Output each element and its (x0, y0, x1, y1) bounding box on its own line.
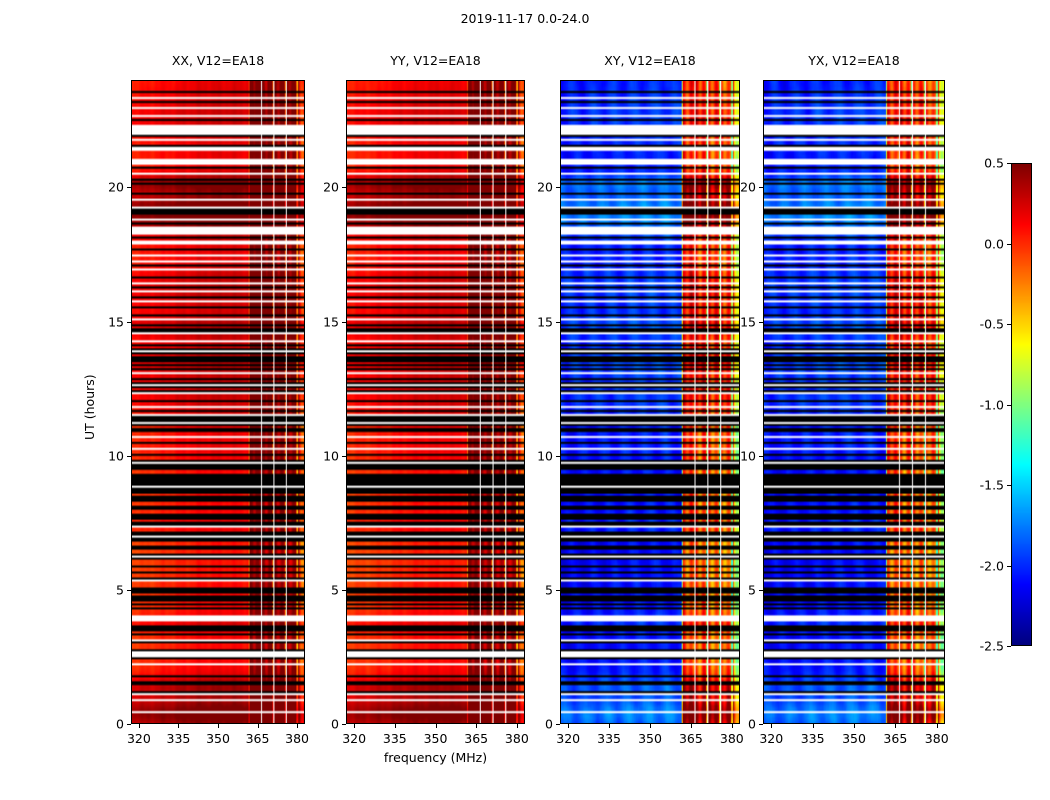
y-tickmark (342, 724, 346, 725)
x-tickmark (139, 724, 140, 728)
y-tickmark (127, 456, 131, 457)
colorbar-tick-label: 0.0 (963, 236, 1004, 251)
panel-title-xx: XX, V12=EA18 (131, 53, 305, 68)
x-tick-label: 335 (383, 731, 407, 746)
y-tickmark (759, 187, 763, 188)
y-tick-label: 0 (723, 717, 756, 732)
colorbar-tick-label: -0.5 (963, 317, 1004, 332)
y-tickmark (556, 187, 560, 188)
x-tick-label: 350 (842, 731, 866, 746)
y-tick-label: 15 (91, 314, 124, 329)
x-tick-label: 365 (464, 731, 488, 746)
colorbar-tick-label: -2.0 (963, 558, 1004, 573)
x-tick-label: 380 (505, 731, 529, 746)
x-tick-label: 350 (424, 731, 448, 746)
y-tick-label: 0 (520, 717, 553, 732)
colorbar-tickmark (1007, 485, 1011, 486)
x-tick-label: 335 (167, 731, 191, 746)
x-tickmark (178, 724, 179, 728)
x-tick-label: 365 (246, 731, 270, 746)
y-tick-label: 0 (306, 717, 339, 732)
y-tick-label: 5 (91, 582, 124, 597)
figure-canvas: 2019-11-17 0.0-24.0 XX, V12=EA1832033535… (0, 0, 1050, 800)
y-tick-label: 10 (306, 448, 339, 463)
x-tickmark (771, 724, 772, 728)
heatmap-image-yy (347, 81, 524, 723)
y-tickmark (556, 724, 560, 725)
colorbar-tickmark (1007, 244, 1011, 245)
y-tickmark (342, 590, 346, 591)
y-tick-label: 15 (723, 314, 756, 329)
panel-title-xy: XY, V12=EA18 (560, 53, 740, 68)
y-tick-label: 15 (520, 314, 553, 329)
y-tickmark (127, 590, 131, 591)
x-tickmark (568, 724, 569, 728)
y-tick-label: 20 (723, 180, 756, 195)
colorbar-tickmark (1007, 646, 1011, 647)
panel-title-yx: YX, V12=EA18 (763, 53, 945, 68)
heatmap-panel-yy[interactable] (346, 80, 525, 724)
y-tick-label: 20 (91, 180, 124, 195)
x-tick-label: 380 (925, 731, 949, 746)
x-tick-label: 335 (801, 731, 825, 746)
y-tickmark (127, 724, 131, 725)
heatmap-image-xy (561, 81, 739, 723)
x-tick-label: 350 (638, 731, 662, 746)
x-tickmark (395, 724, 396, 728)
y-tick-label: 5 (723, 582, 756, 597)
y-tick-label: 5 (306, 582, 339, 597)
x-tickmark (895, 724, 896, 728)
x-tickmark (937, 724, 938, 728)
y-tickmark (342, 456, 346, 457)
colorbar-tick-label: -2.5 (963, 639, 1004, 654)
x-tickmark (476, 724, 477, 728)
y-tickmark (342, 187, 346, 188)
x-tick-label: 350 (206, 731, 230, 746)
y-tickmark (759, 724, 763, 725)
colorbar-tick-label: 0.5 (963, 156, 1004, 171)
y-tick-label: 10 (520, 448, 553, 463)
y-tickmark (556, 322, 560, 323)
heatmap-panel-yx[interactable] (763, 80, 945, 724)
x-tick-label: 365 (883, 731, 907, 746)
x-tickmark (258, 724, 259, 728)
y-tickmark (127, 187, 131, 188)
heatmap-canvas-yx (764, 81, 944, 723)
x-tickmark (609, 724, 610, 728)
colorbar (1011, 163, 1032, 646)
x-tick-label: 380 (285, 731, 309, 746)
x-tickmark (813, 724, 814, 728)
x-tickmark (436, 724, 437, 728)
x-tickmark (517, 724, 518, 728)
y-tickmark (759, 456, 763, 457)
x-tickmark (854, 724, 855, 728)
x-tickmark (297, 724, 298, 728)
y-tick-label: 0 (91, 717, 124, 732)
x-tick-label: 335 (597, 731, 621, 746)
y-axis-label: UT (hours) (82, 374, 97, 440)
y-tick-label: 20 (520, 180, 553, 195)
panel-title-yy: YY, V12=EA18 (346, 53, 525, 68)
y-tickmark (759, 590, 763, 591)
y-tick-label: 10 (91, 448, 124, 463)
colorbar-gradient (1012, 164, 1031, 645)
heatmap-panel-xy[interactable] (560, 80, 740, 724)
colorbar-tickmark (1007, 324, 1011, 325)
x-tick-label: 320 (342, 731, 366, 746)
heatmap-image-xx (132, 81, 304, 723)
colorbar-tick-label: -1.5 (963, 478, 1004, 493)
x-tickmark (354, 724, 355, 728)
colorbar-tick-label: -1.0 (963, 397, 1004, 412)
x-tickmark (650, 724, 651, 728)
heatmap-image-yx (764, 81, 944, 723)
colorbar-tickmark (1007, 566, 1011, 567)
heatmap-canvas-yy (347, 81, 524, 723)
x-tick-label: 320 (759, 731, 783, 746)
x-tick-label: 320 (556, 731, 580, 746)
x-tick-label: 320 (127, 731, 151, 746)
y-tick-label: 10 (723, 448, 756, 463)
y-tick-label: 15 (306, 314, 339, 329)
y-tickmark (556, 456, 560, 457)
y-tickmark (342, 322, 346, 323)
x-tick-label: 365 (679, 731, 703, 746)
x-tickmark (218, 724, 219, 728)
x-axis-label: frequency (MHz) (286, 750, 585, 765)
y-tick-label: 20 (306, 180, 339, 195)
y-tickmark (127, 322, 131, 323)
heatmap-panel-xx[interactable] (131, 80, 305, 724)
colorbar-tickmark (1007, 163, 1011, 164)
heatmap-canvas-xx (132, 81, 304, 723)
y-tickmark (556, 590, 560, 591)
heatmap-canvas-xy (561, 81, 739, 723)
y-tick-label: 5 (520, 582, 553, 597)
y-tickmark (759, 322, 763, 323)
figure-suptitle: 2019-11-17 0.0-24.0 (0, 11, 1050, 26)
x-tick-label: 380 (720, 731, 744, 746)
colorbar-tickmark (1007, 405, 1011, 406)
x-tickmark (691, 724, 692, 728)
